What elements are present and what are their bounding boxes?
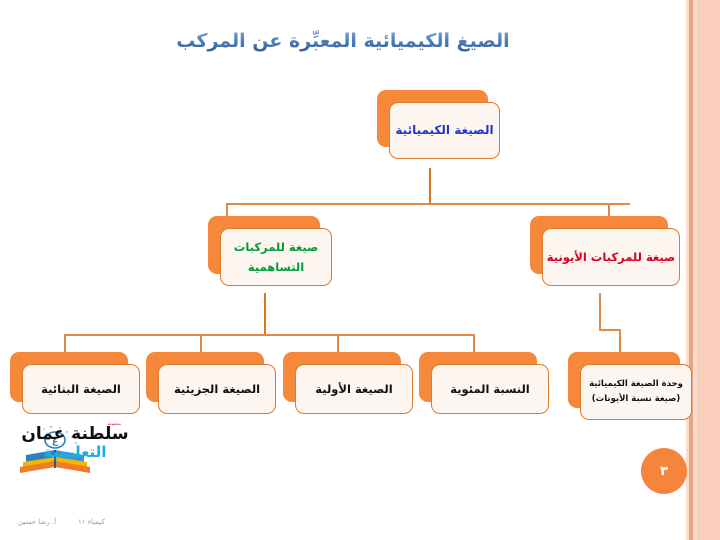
logo-text: سلطنة عمان التعليمية (19, 426, 131, 460)
node-covalent-label-line1: صيغة للمركبات (234, 237, 318, 257)
connector-to-leaf-formula-unit (619, 329, 621, 353)
node-leaf-percent-label: النسبة المئوية (450, 379, 530, 399)
slide-canvas: الصيغ الكيميائية المعبِّرة عن المركب الص… (0, 0, 720, 540)
node-ionic[interactable]: صيغة للمركبات الأيونية (530, 216, 668, 274)
logo-line-1: سلطنة عمان (19, 426, 131, 444)
node-leaf-formula-unit-card[interactable]: وحدة الصيغة الكيميائية (صيغة نسبة الأيون… (580, 364, 692, 420)
connector-root-down (429, 168, 431, 204)
node-leaf-empirical[interactable]: الصيغة الأولية (283, 352, 401, 402)
node-leaf-molecular-label: الصيغة الجزيئية (174, 379, 260, 399)
connector-level1-bus (226, 203, 630, 205)
node-root[interactable]: الصيغة الكيميائية (377, 90, 488, 147)
node-ionic-card[interactable]: صيغة للمركبات الأيونية (542, 228, 680, 286)
connector-to-leaf-empirical (337, 334, 339, 353)
connector-leaf-bus (64, 334, 474, 336)
connector-to-leaf-molecular (200, 334, 202, 353)
node-ionic-label: صيغة للمركبات الأيونية (547, 247, 675, 267)
node-leaf-formula-unit-label-line1: وحدة الصيغة الكيميائية (589, 377, 683, 392)
node-leaf-formula-unit[interactable]: وحدة الصيغة الكيميائية (صيغة نسبة الأيون… (568, 352, 680, 408)
connector-ionic-elbow (599, 329, 621, 331)
connector-ionic-down (599, 293, 601, 330)
node-leaf-percent[interactable]: النسبة المئوية (419, 352, 537, 402)
node-leaf-percent-card[interactable]: النسبة المئوية (431, 364, 549, 414)
node-leaf-structural-label: الصيغة البنائية (41, 379, 121, 399)
footer: أ. رضا حسين كيمياء ١١ (0, 518, 686, 534)
node-leaf-molecular[interactable]: الصيغة الجزيئية (146, 352, 264, 402)
node-covalent-card[interactable]: صيغة للمركبات التساهمية (220, 228, 332, 286)
oman-education-logo: ع مجموعة سلطنة عمان التعليمية (16, 424, 221, 476)
node-leaf-structural[interactable]: الصيغة البنائية (10, 352, 128, 402)
page-number-badge: ٣ (641, 448, 687, 494)
node-leaf-empirical-card[interactable]: الصيغة الأولية (295, 364, 413, 414)
node-root-label: الصيغة الكيميائية (395, 120, 493, 141)
connector-to-leaf-percent (473, 334, 475, 353)
node-leaf-empirical-label: الصيغة الأولية (315, 379, 392, 399)
connector-to-leaf-structural (64, 334, 66, 353)
footer-author: أ. رضا حسين (18, 518, 56, 526)
node-leaf-molecular-card[interactable]: الصيغة الجزيئية (158, 364, 276, 414)
node-root-card[interactable]: الصيغة الكيميائية (389, 102, 500, 159)
footer-subject: كيمياء ١١ (78, 518, 105, 526)
logo-line-2: التعليمية (19, 444, 131, 461)
node-covalent-label-line2: التساهمية (248, 257, 304, 277)
connector-covalent-down (264, 293, 266, 335)
node-covalent[interactable]: صيغة للمركبات التساهمية (208, 216, 320, 274)
node-leaf-formula-unit-label-line2: (صيغة نسبة الأيونات) (592, 392, 680, 407)
node-leaf-structural-card[interactable]: الصيغة البنائية (22, 364, 140, 414)
